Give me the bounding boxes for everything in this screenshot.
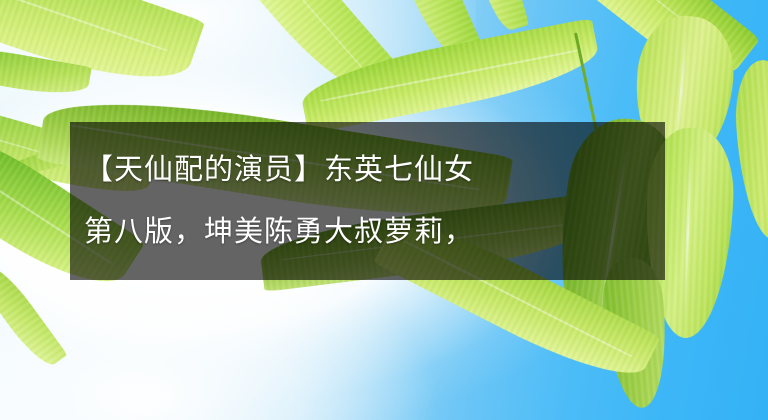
screenshot-canvas: 【天仙配的演员】东英七仙女 第八版，坤美陈勇大叔萝莉，	[0, 0, 768, 420]
caption-overlay-band: 【天仙配的演员】东英七仙女 第八版，坤美陈勇大叔萝莉，	[70, 122, 665, 280]
caption-line-1: 【天仙配的演员】东英七仙女	[84, 139, 651, 201]
caption-line-2: 第八版，坤美陈勇大叔萝莉，	[84, 201, 651, 263]
